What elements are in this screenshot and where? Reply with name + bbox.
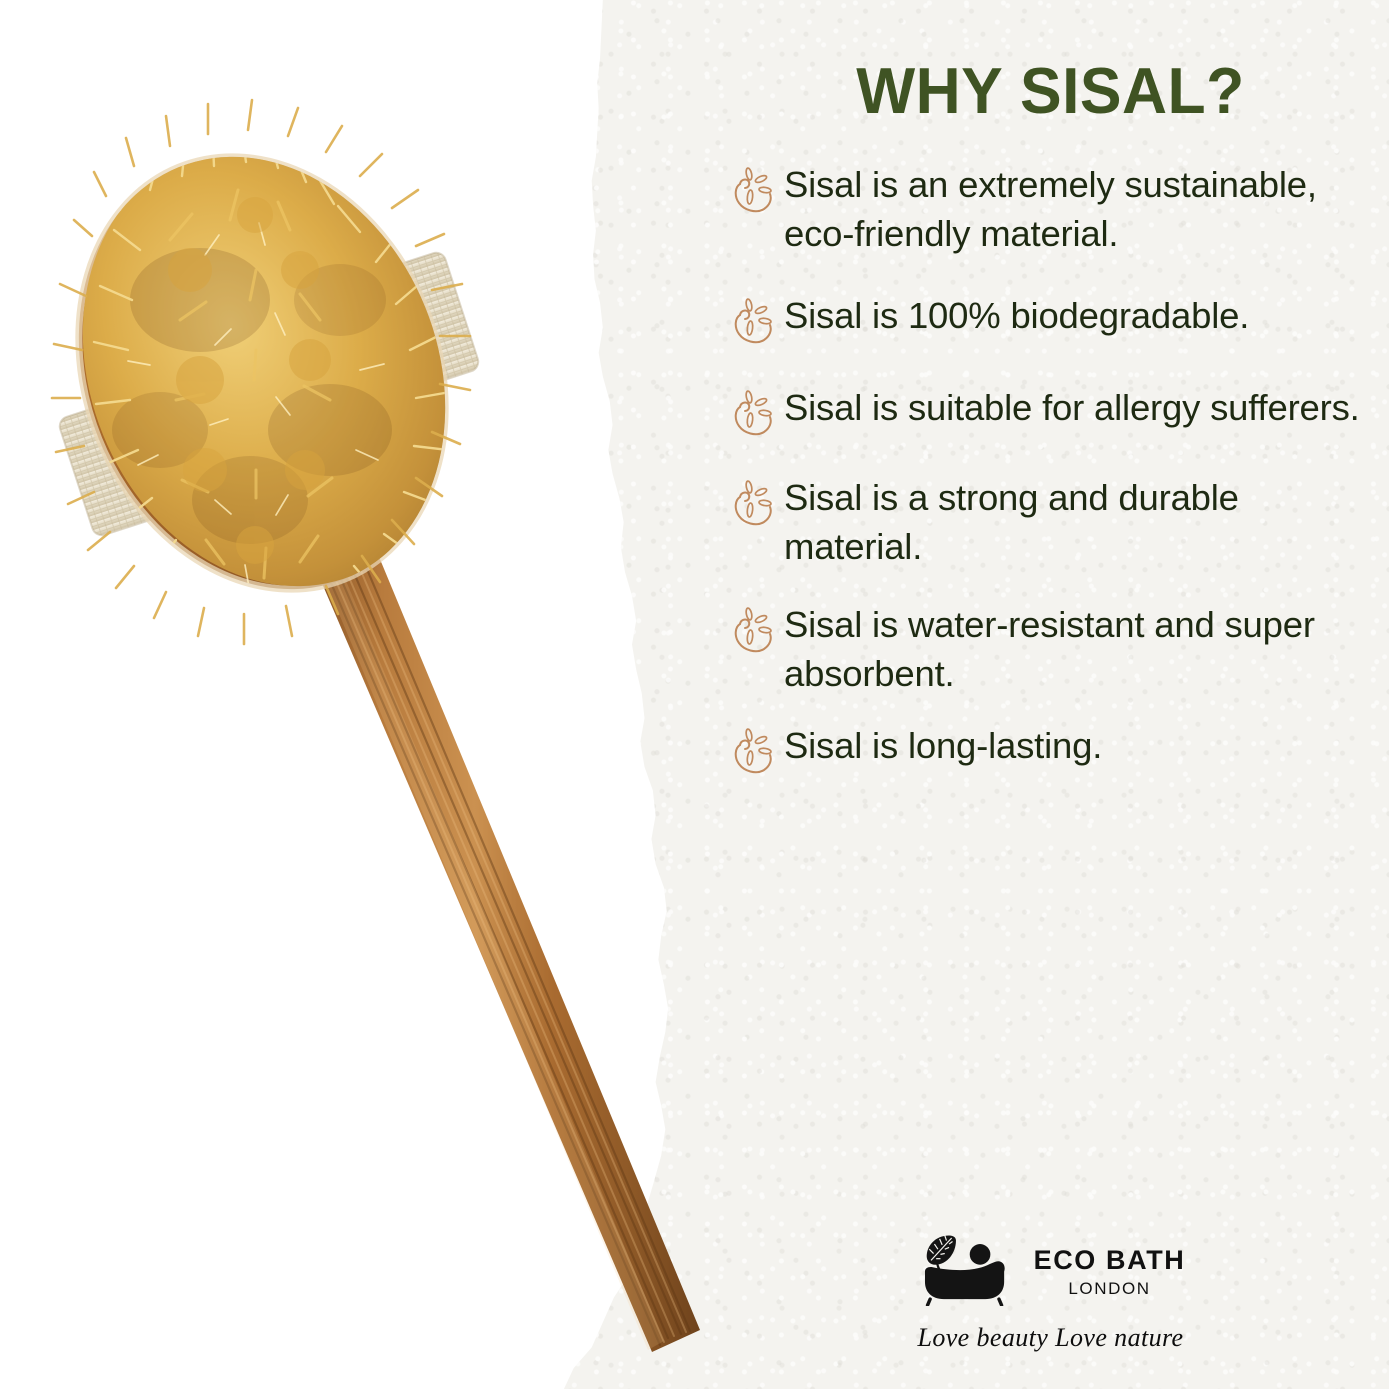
logo-row: ECO BATH LONDON [916, 1232, 1186, 1311]
brand-logo: ECO BATH LONDON Love beauty Love nature [712, 1232, 1389, 1353]
list-item: Sisal is suitable for allergy sufferers. [712, 384, 1389, 442]
list-item-text: Sisal is 100% biodegradable. [784, 292, 1249, 341]
list-item: Sisal is 100% biodegradable. [712, 292, 1389, 350]
sprig-leaf-icon [732, 390, 778, 442]
brand-tagline: Love beauty Love nature [917, 1323, 1183, 1353]
bristle-tips [52, 100, 470, 644]
benefits-list: Sisal is an extremely sustainable, eco-f… [712, 161, 1389, 780]
brush-strap-left [57, 390, 187, 538]
brush-head-wood [16, 101, 509, 645]
sprig-leaf-icon [732, 480, 778, 532]
list-item-text: Sisal is long-lasting. [784, 722, 1102, 771]
list-item: Sisal is long-lasting. [712, 722, 1389, 780]
list-item: Sisal is a strong and durable material. [712, 474, 1389, 571]
logo-wordmark: ECO BATH LONDON [1034, 1247, 1186, 1297]
sprig-leaf-icon [732, 607, 778, 659]
sprig-leaf-icon [732, 298, 778, 350]
brush-bristles [19, 94, 517, 643]
bathtub-leaf-icon [916, 1232, 1020, 1311]
brush-strap-right [351, 250, 481, 398]
list-item-text: Sisal is an extremely sustainable, eco-f… [784, 161, 1374, 258]
list-item: Sisal is an extremely sustainable, eco-f… [712, 161, 1389, 258]
sprig-leaf-icon [732, 167, 778, 219]
list-item-text: Sisal is suitable for allergy sufferers. [784, 384, 1360, 433]
brand-city: LONDON [1068, 1280, 1150, 1297]
brand-name: ECO BATH [1034, 1247, 1186, 1274]
page-title: WHY SISAL? [726, 0, 1376, 125]
list-item-text: Sisal is a strong and durable material. [784, 474, 1374, 571]
list-item-text: Sisal is water-resistant and super absor… [784, 601, 1374, 698]
list-item: Sisal is water-resistant and super absor… [712, 601, 1389, 698]
content-column: WHY SISAL? [712, 0, 1389, 1389]
sprig-leaf-icon [732, 728, 778, 780]
infographic-canvas: WHY SISAL? [0, 0, 1389, 1389]
